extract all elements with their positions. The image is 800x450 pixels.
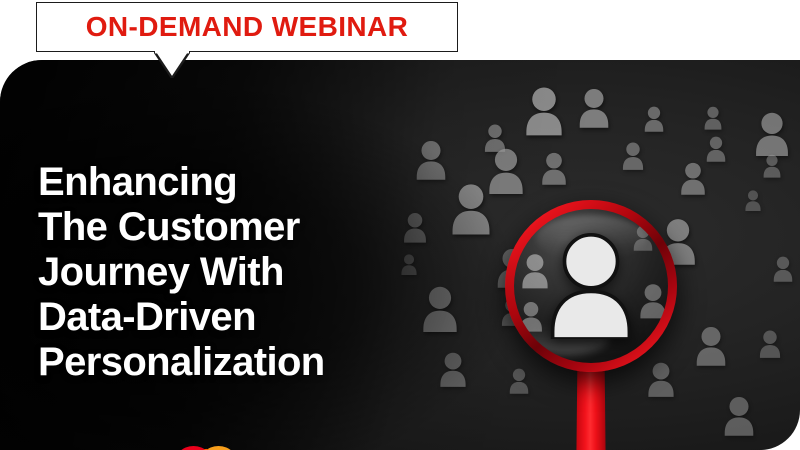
- person-avatar-icon: [486, 148, 526, 194]
- webinar-promo-banner: Enhancing The Customer Journey With Data…: [0, 0, 800, 450]
- person-avatar-icon: [722, 396, 756, 436]
- headline-line-1: Enhancing: [38, 160, 438, 205]
- person-avatar-icon: [621, 142, 645, 170]
- badge-box: ON-DEMAND WEBINAR: [36, 2, 458, 52]
- callout-pointer-icon: [154, 51, 190, 78]
- person-avatar-icon: [694, 326, 728, 366]
- person-avatar-icon: [540, 152, 568, 185]
- person-avatar-icon: [438, 352, 468, 387]
- person-avatar-icon: [643, 106, 665, 132]
- presented-by: PRESENTED BY: [38, 446, 239, 450]
- focused-person-icon: [545, 233, 637, 339]
- person-avatar-icon: [744, 190, 762, 211]
- hero-panel: Enhancing The Customer Journey With Data…: [0, 60, 800, 450]
- person-avatar-icon: [679, 162, 707, 195]
- person-avatar-icon: [703, 106, 723, 130]
- person-avatar-icon: [577, 88, 611, 128]
- headline-line-4: Data-Driven: [38, 295, 438, 340]
- magnifying-glass-icon: [505, 200, 677, 450]
- magnifier-lens: [514, 209, 668, 363]
- person-avatar-icon: [638, 283, 668, 319]
- person-avatar-icon: [705, 136, 727, 162]
- on-demand-badge: ON-DEMAND WEBINAR: [36, 2, 458, 52]
- person-avatar-icon: [758, 330, 782, 358]
- headline-line-3: Journey With: [38, 250, 438, 295]
- mastercard-logo: [173, 446, 239, 450]
- page-title: Enhancing The Customer Journey With Data…: [38, 160, 438, 385]
- headline-line-5: Personalization: [38, 340, 438, 385]
- magnifier-rim: [505, 200, 677, 372]
- badge-label: ON-DEMAND WEBINAR: [86, 11, 409, 43]
- person-avatar-icon: [762, 154, 782, 178]
- person-avatar-icon: [523, 86, 565, 136]
- person-avatar-icon: [753, 112, 791, 156]
- person-avatar-icon: [772, 256, 794, 282]
- headline-line-2: The Customer: [38, 205, 438, 250]
